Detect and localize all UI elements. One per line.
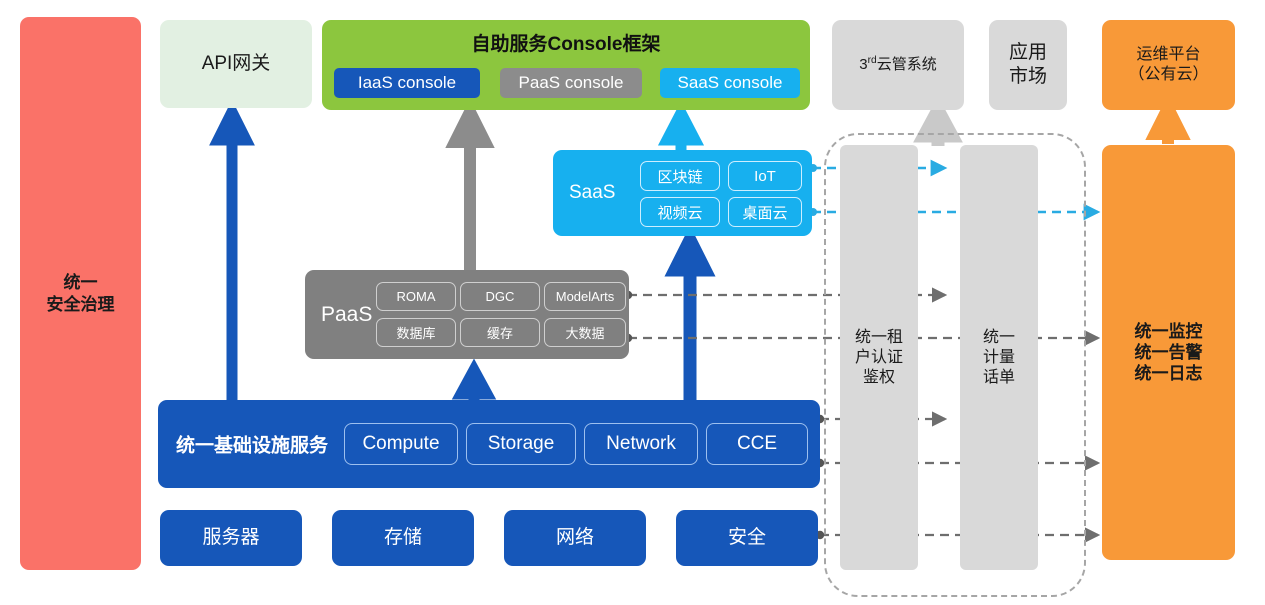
- ops-monitoring-column[interactable]: 统一监控 统一告警 统一日志: [1102, 145, 1235, 560]
- saas-item-video-cloud[interactable]: 视频云: [640, 197, 720, 227]
- paas-block: PaaS ROMA DGC ModelArts 数据库 缓存 大数据: [305, 270, 629, 359]
- infra-item-storage[interactable]: Storage: [466, 423, 576, 465]
- infrastructure-label: 统一基础设施服务: [176, 431, 328, 458]
- shared-service-metering-label: 统一 计量 话单: [983, 328, 1015, 388]
- arrow-ops-to-opsplatform: [1155, 108, 1181, 144]
- app-market-card[interactable]: 应用 市场: [989, 20, 1067, 110]
- shared-service-auth-column[interactable]: 统一租 户认证 鉴权: [840, 145, 918, 570]
- arrow-saas-to-saasconsole: [667, 113, 695, 150]
- saas-item-video-cloud-label: 视频云: [657, 202, 702, 223]
- third-party-cloud-mgmt-card[interactable]: 3rd云管系统: [832, 20, 964, 110]
- hardware-card-security-label: 安全: [728, 526, 766, 550]
- paas-item-bigdata[interactable]: 大数据: [544, 318, 626, 347]
- chip-iaas-console-label: IaaS console: [358, 73, 456, 93]
- paas-item-database[interactable]: 数据库: [376, 318, 456, 347]
- api-gateway-card: API网关: [160, 20, 312, 108]
- third-party-suffix: 云管系统: [877, 56, 937, 73]
- saas-item-blockchain-label: 区块链: [657, 166, 702, 187]
- chip-paas-console-label: PaaS console: [519, 73, 624, 93]
- ops-platform-label: 运维平台 （公有云）: [1128, 45, 1208, 85]
- infra-item-network[interactable]: Network: [584, 423, 698, 465]
- hardware-card-network[interactable]: 网络: [504, 510, 646, 566]
- hardware-card-server[interactable]: 服务器: [160, 510, 302, 566]
- third-party-prefix: 3: [859, 56, 867, 73]
- third-party-cloud-mgmt-label: 3rd云管系统: [859, 55, 936, 75]
- infra-item-cce[interactable]: CCE: [706, 423, 808, 465]
- chip-paas-console[interactable]: PaaS console: [500, 68, 642, 98]
- infra-item-compute[interactable]: Compute: [344, 423, 458, 465]
- shared-service-metering-column[interactable]: 统一 计量 话单: [960, 145, 1038, 570]
- paas-item-cache[interactable]: 缓存: [460, 318, 540, 347]
- paas-item-dgc-label: DGC: [486, 289, 515, 304]
- saas-block-label: SaaS: [569, 182, 615, 204]
- ops-monitoring-label: 统一监控 统一告警 统一日志: [1135, 321, 1203, 385]
- ops-platform-card[interactable]: 运维平台 （公有云）: [1102, 20, 1235, 110]
- chip-saas-console[interactable]: SaaS console: [660, 68, 800, 98]
- console-frame-title: 自助服务Console框架: [322, 29, 810, 56]
- paas-block-label: PaaS: [321, 303, 372, 327]
- hardware-card-security[interactable]: 安全: [676, 510, 818, 566]
- saas-item-desktop-cloud-label: 桌面云: [742, 202, 787, 223]
- hardware-card-storage[interactable]: 存储: [332, 510, 474, 566]
- chip-iaas-console[interactable]: IaaS console: [334, 68, 480, 98]
- paas-item-modelarts[interactable]: ModelArts: [544, 282, 626, 311]
- security-pillar: 统一 安全治理: [20, 17, 141, 570]
- app-market-label: 应用 市场: [1009, 41, 1047, 89]
- third-party-superscript: rd: [868, 55, 877, 66]
- arrow-paas-to-console: [455, 112, 485, 270]
- arrow-infra-to-saas: [675, 240, 705, 400]
- api-gateway-label: API网关: [202, 52, 271, 76]
- security-pillar-label: 统一 安全治理: [47, 272, 115, 315]
- paas-item-roma[interactable]: ROMA: [376, 282, 456, 311]
- paas-item-dgc[interactable]: DGC: [460, 282, 540, 311]
- infrastructure-bar: 统一基础设施服务 Compute Storage Network CCE: [158, 400, 820, 488]
- saas-item-iot-label: IoT: [754, 168, 776, 185]
- chip-saas-console-label: SaaS console: [678, 73, 783, 93]
- paas-item-cache-label: 缓存: [487, 323, 513, 342]
- hardware-card-network-label: 网络: [556, 526, 594, 550]
- arrow-infra-to-apigw: [218, 112, 246, 400]
- saas-block: SaaS 区块链 IoT 视频云 桌面云: [553, 150, 812, 236]
- saas-item-iot[interactable]: IoT: [728, 161, 802, 191]
- infra-item-cce-label: CCE: [737, 433, 777, 455]
- console-frame: 自助服务Console框架 IaaS console PaaS console …: [322, 20, 810, 110]
- hardware-card-server-label: 服务器: [202, 526, 259, 550]
- paas-item-database-label: 数据库: [396, 323, 435, 342]
- paas-item-modelarts-label: ModelArts: [556, 289, 615, 304]
- shared-service-auth-label: 统一租 户认证 鉴权: [855, 328, 903, 388]
- saas-item-desktop-cloud[interactable]: 桌面云: [728, 197, 802, 227]
- paas-item-roma-label: ROMA: [397, 289, 436, 304]
- infra-item-network-label: Network: [606, 433, 676, 455]
- architecture-diagram: 统一 安全治理 API网关 自助服务Console框架 IaaS console…: [0, 0, 1265, 605]
- hardware-card-storage-label: 存储: [384, 526, 422, 550]
- infra-item-storage-label: Storage: [488, 433, 555, 455]
- paas-item-bigdata-label: 大数据: [565, 323, 604, 342]
- arrow-infra-to-paas: [461, 370, 487, 400]
- infra-item-compute-label: Compute: [362, 433, 439, 455]
- saas-item-blockchain[interactable]: 区块链: [640, 161, 720, 191]
